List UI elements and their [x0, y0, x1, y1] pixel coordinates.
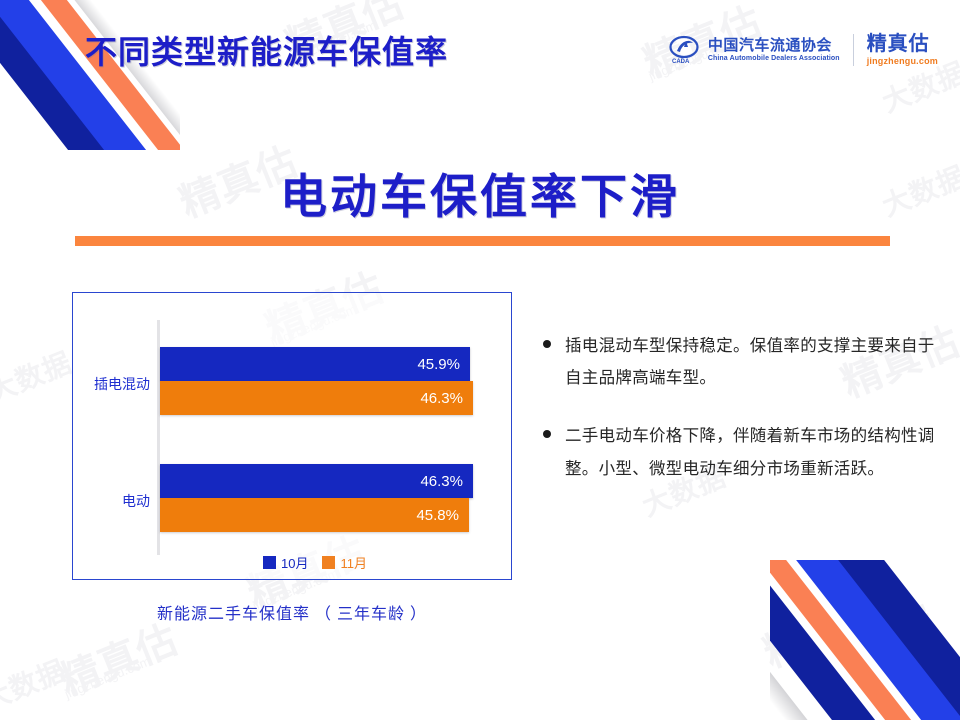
chart-legend: 10月 11月: [160, 553, 470, 572]
chart-bar-plugin-hybrid-nov: 46.3%: [160, 381, 473, 415]
chart-panel: [72, 292, 512, 580]
corner-decoration-bottom-right: [770, 560, 960, 720]
chart-bar-electric-oct: 46.3%: [160, 464, 473, 498]
bullet-item: 二手电动车价格下降，伴随着新车市场的结构性调整。小型、微型电动车细分市场重新活跃…: [543, 420, 943, 484]
stripe-shadow: [24, 0, 180, 150]
legend-label: 10月: [281, 553, 308, 572]
chart-bar-value: 46.3%: [420, 473, 463, 490]
watermark-brand: 精真估: [754, 579, 890, 679]
cada-logo: CADA 中国汽车流通协会 China Automobile Dealers A…: [669, 35, 840, 65]
legend-item-october: 10月: [263, 553, 308, 572]
headline: 电动车保值率下滑: [0, 158, 960, 227]
chart-category-label: 电动: [60, 491, 150, 511]
watermark-bigdata: 大数据: [842, 595, 938, 665]
page-title: 不同类型新能源车保值率: [85, 27, 448, 73]
legend-item-november: 11月: [322, 553, 367, 572]
chart-bar-value: 45.9%: [417, 356, 460, 373]
chart-bar-value: 46.3%: [420, 390, 463, 407]
stripe-orange: [0, 0, 180, 150]
stripe-white: [0, 0, 180, 150]
bullet-text: 二手电动车价格下降，伴随着新车市场的结构性调整。小型、微型电动车细分市场重新活跃…: [565, 420, 943, 484]
svg-text:CADA: CADA: [672, 59, 690, 65]
stripe-white: [770, 560, 960, 720]
stripe-shadow: [770, 560, 856, 720]
bullet-list: 插电混动车型保持稳定。保值率的支撑主要来自于自主品牌高端车型。 二手电动车价格下…: [543, 330, 943, 511]
stripe-dark-blue: [0, 0, 143, 150]
chart-caption: 新能源二手车保值率 （ 三年车龄 ）: [72, 600, 512, 624]
jingzhengu-url: jingzhengu.com: [867, 56, 938, 66]
cada-name-en: China Automobile Dealers Association: [708, 55, 840, 62]
legend-label: 11月: [340, 553, 367, 572]
legend-swatch-icon: [322, 556, 335, 569]
orange-divider: [75, 236, 890, 246]
jingzhengu-name-cn: 精真估: [867, 34, 938, 54]
stripe-dark-blue: [807, 560, 960, 720]
watermark-bigdata: 大数据: [0, 649, 71, 719]
stripe-orange: [770, 560, 958, 720]
stripe-blue: [770, 560, 960, 720]
corner-decoration-top-left: [0, 0, 180, 150]
jingzhengu-logo: 精真估 jingzhengu.com: [867, 34, 938, 66]
chart-category-label: 插电混动: [60, 374, 150, 394]
chart-bar-plugin-hybrid-oct: 45.9%: [160, 347, 470, 381]
bullet-dot-icon: [543, 430, 551, 438]
chart-bar-electric-nov: 45.8%: [160, 498, 469, 532]
stripe-dark-blue: [770, 560, 922, 720]
slide: 精真估 jingzhengu.com 精真估 jingzhengu.com 大数…: [0, 0, 960, 720]
watermark-url: jingzhengu.com: [63, 653, 153, 701]
brand-divider: [853, 34, 854, 66]
bullet-text: 插电混动车型保持稳定。保值率的支撑主要来自于自主品牌高端车型。: [565, 330, 943, 394]
bullet-item: 插电混动车型保持稳定。保值率的支撑主要来自于自主品牌高端车型。: [543, 330, 943, 394]
legend-swatch-icon: [263, 556, 276, 569]
cada-name-cn: 中国汽车流通协会: [708, 38, 840, 54]
cada-emblem-icon: CADA: [669, 35, 701, 65]
bullet-dot-icon: [543, 340, 551, 348]
stripe-blue: [0, 0, 178, 150]
stripe-white: [20, 0, 180, 150]
stripe-white: [770, 560, 932, 720]
brand-lockup: CADA 中国汽车流通协会 China Automobile Dealers A…: [669, 34, 938, 66]
chart-bar-value: 45.8%: [416, 507, 459, 524]
